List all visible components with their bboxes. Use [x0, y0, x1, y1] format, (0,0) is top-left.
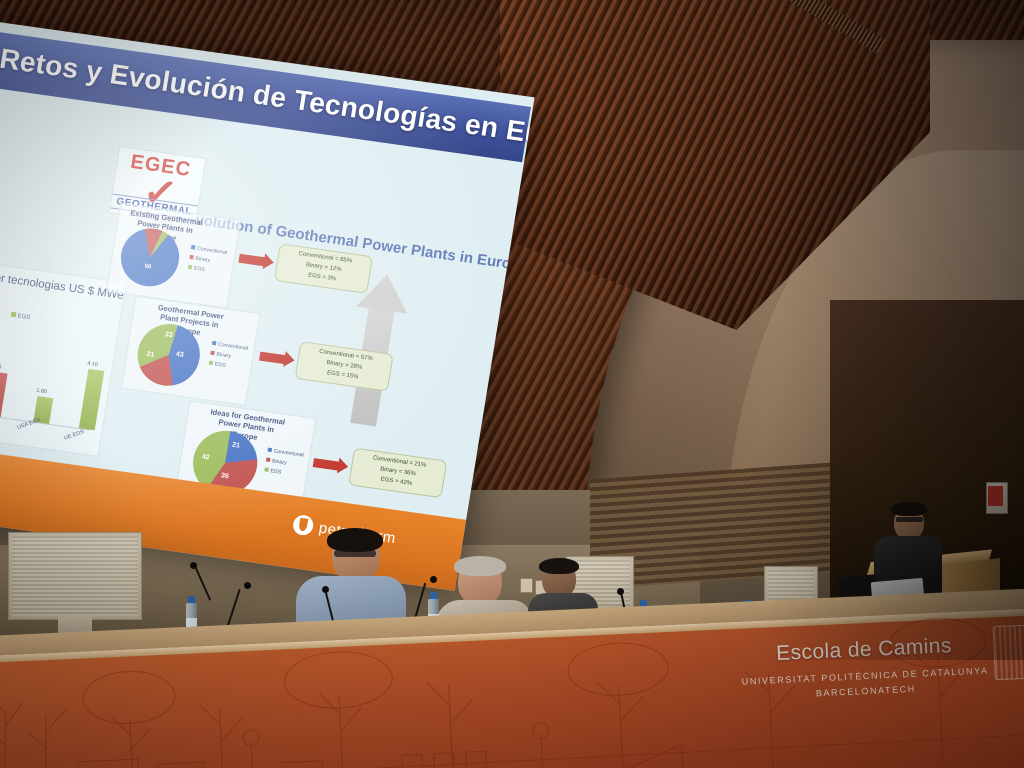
- pie-chart-panel-1: Existing Geothermal Power Plants in Euro…: [106, 203, 241, 309]
- microphone-capsule-icon: [430, 576, 437, 583]
- pie-chart-legend-1: Conventional Binary EGS: [187, 244, 228, 278]
- legend-label: EGS: [193, 265, 205, 272]
- pie-chart-legend-2: Conventional Binary EGS: [208, 340, 249, 374]
- arrow-right-icon: [259, 352, 286, 365]
- legend-label: EGS: [17, 314, 31, 322]
- crt-monitor: [8, 532, 142, 620]
- arrow-right-icon: [238, 254, 265, 267]
- pie-chart-legend-3: Conventional Binary EGS: [264, 447, 305, 481]
- arrow-right-icon: [313, 458, 340, 471]
- wall-sign-red-insert: [988, 486, 1003, 506]
- microphone-capsule-icon: [190, 562, 197, 569]
- microphone-capsule-icon: [617, 588, 624, 595]
- pie-slice-value: 33: [164, 331, 173, 339]
- microphone-capsule-icon: [322, 586, 329, 593]
- conference-hall-photo: Retos y Evolución de Tecnologías en Euro…: [0, 0, 1024, 768]
- legend-label: Binary: [195, 256, 211, 264]
- legend-label: Binary: [216, 351, 232, 359]
- pie-slice-value: 21: [232, 442, 241, 450]
- callout-box-3: Conventional = 21% Binary = 36% EGS = 42…: [348, 448, 447, 498]
- legend-label: Binary: [272, 458, 288, 466]
- legend-label: EGS: [270, 468, 282, 475]
- upc-seal-icon: [993, 624, 1024, 680]
- banner-text: Escola de Camins UNIVERSITAT POLITÈCNICA…: [740, 633, 990, 702]
- pie-slice-value: 42: [201, 453, 210, 461]
- eyeglasses: [334, 550, 376, 557]
- pie-slice-value: 50: [144, 264, 152, 271]
- bar-value-label: 1.80: [36, 388, 48, 395]
- presentation-slide: Retos y Evolución de Tecnologías en Euro…: [0, 18, 535, 591]
- panelist-hair: [454, 556, 506, 576]
- bar-value-label: 3.00: [0, 363, 2, 370]
- pie-slice-value: 36: [220, 472, 229, 480]
- projection-screen: Retos y Evolución de Tecnologías en Euro…: [0, 18, 535, 591]
- bar-category-label: UE Baja Temperatura: [0, 401, 9, 430]
- panelist-hair: [327, 528, 383, 552]
- pie-slice-value: 43: [175, 351, 184, 359]
- pie-slice-value: 21: [146, 351, 155, 359]
- eyeglasses: [896, 517, 923, 522]
- legend-label: EGS: [214, 361, 226, 368]
- bar-chart-legend: Flash Binario EGS: [0, 302, 41, 323]
- speaker-hair: [891, 502, 927, 516]
- panelist-hair: [539, 558, 579, 574]
- bar-chart-title: Costes produccion por tecnologias US $ M…: [0, 256, 125, 304]
- microphone-capsule-icon: [244, 582, 251, 589]
- bar-value-label: 4.10: [87, 361, 99, 368]
- pie-chart-panel-2: Geothermal Power Plant Projects in Europ…: [121, 296, 261, 406]
- monitor-vent-texture: [12, 536, 138, 616]
- bar: [79, 369, 104, 430]
